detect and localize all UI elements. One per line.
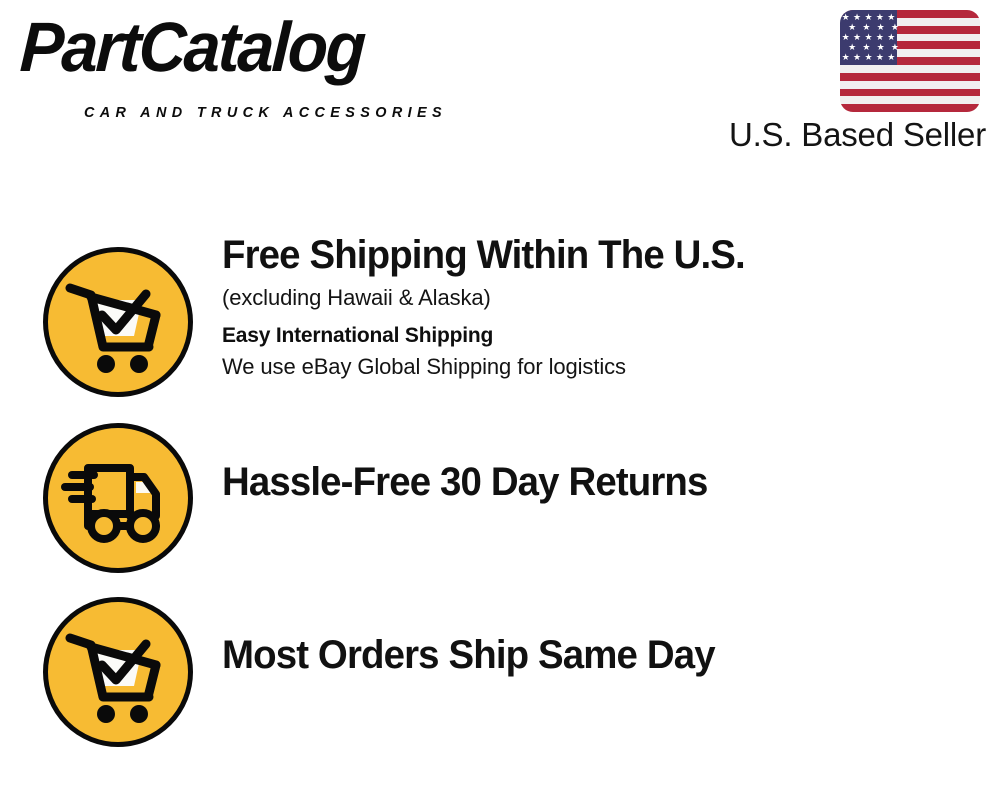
flag-stripe: [840, 81, 980, 89]
flag-stripe: [840, 73, 980, 81]
feature-text: Hassle-Free 30 Day Returns: [222, 459, 982, 506]
feature-row: Free Shipping Within The U.S. (excluding…: [0, 232, 1000, 412]
feature-text: Most Orders Ship Same Day: [222, 632, 982, 679]
brand-wordmark: PartCatalog: [19, 12, 366, 82]
feature-subtitle: (excluding Hawaii & Alaska): [222, 283, 982, 313]
page-header: PartCatalog CAR AND TRUCK ACCESSORIES ★★…: [0, 0, 1000, 170]
flag-stripe: [840, 104, 980, 112]
feature-subtitle-detail: We use eBay Global Shipping for logistic…: [222, 352, 982, 382]
delivery-truck-icon: [43, 423, 193, 573]
feature-row: Hassle-Free 30 Day Returns: [0, 412, 1000, 584]
cart-check-icon: [43, 247, 193, 397]
cart-check-icon: [43, 597, 193, 747]
feature-row: Most Orders Ship Same Day: [0, 584, 1000, 760]
flag-stripe: [840, 96, 980, 104]
feature-subtitle-bold: Easy International Shipping: [222, 321, 982, 351]
us-based-seller-label: U.S. Based Seller: [728, 116, 986, 154]
flag-stripe: [840, 89, 980, 97]
feature-title: Free Shipping Within The U.S.: [222, 232, 952, 279]
feature-title: Hassle-Free 30 Day Returns: [222, 459, 952, 506]
us-flag-icon: ★★★★★ ★★★★ ★★★★★ ★★★★ ★★★★★: [840, 10, 980, 112]
feature-title: Most Orders Ship Same Day: [222, 632, 952, 679]
brand-logo[interactable]: PartCatalog CAR AND TRUCK ACCESSORIES: [22, 18, 502, 118]
flag-stripe: [840, 65, 980, 73]
flag-star-row: ★★★★★: [840, 52, 897, 63]
flag-canton: ★★★★★ ★★★★ ★★★★★ ★★★★ ★★★★★: [840, 10, 897, 65]
feature-text: Free Shipping Within The U.S. (excluding…: [222, 232, 982, 382]
brand-tagline: CAR AND TRUCK ACCESSORIES: [84, 104, 447, 121]
